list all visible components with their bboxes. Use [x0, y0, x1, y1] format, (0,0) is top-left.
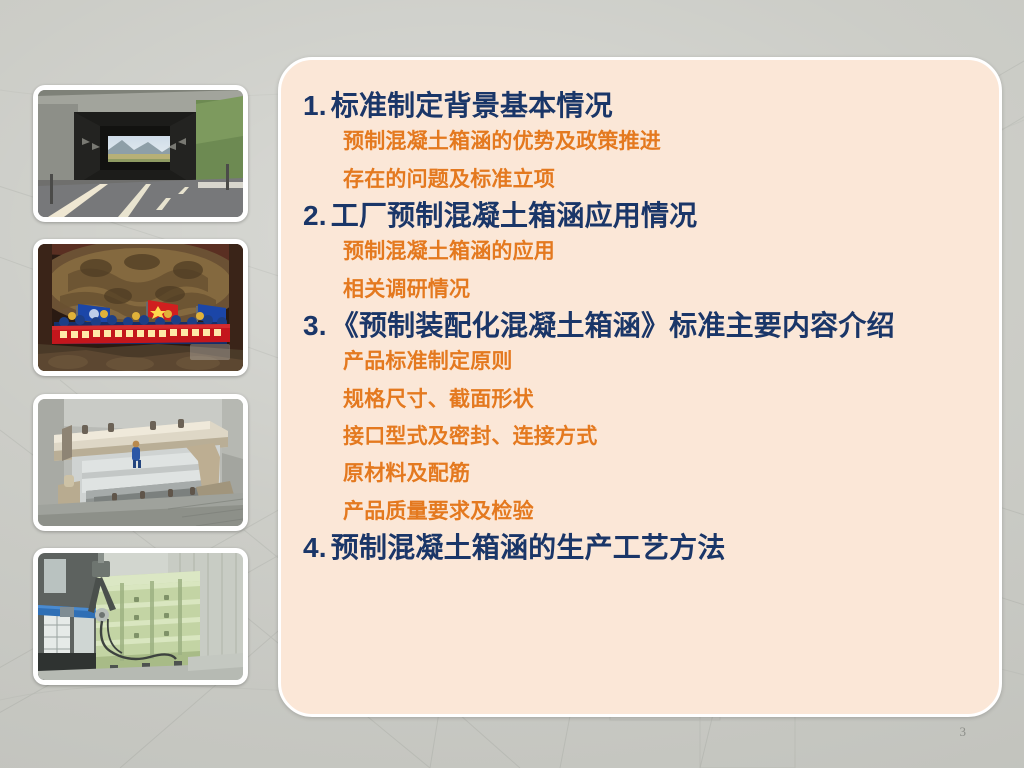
- outline-subitem-2-1[interactable]: 预制混凝土箱涵的应用: [299, 233, 981, 270]
- outline-item-3[interactable]: 3.《预制装配化混凝土箱涵》标准主要内容介绍: [299, 308, 981, 343]
- outline-item-label: 原材料及配筋: [343, 462, 470, 485]
- outline-subitem-3-3[interactable]: 接口型式及密封、连接方式: [299, 418, 981, 455]
- outline-subitem-3-4[interactable]: 原材料及配筋: [299, 455, 981, 492]
- photo-green-steel-mould-factory: [33, 548, 248, 685]
- outline-content-panel: 1.标准制定背景基本情况 预制混凝土箱涵的优势及政策推进 存在的问题及标准立项 …: [278, 57, 1002, 717]
- outline-item-number: 2.: [303, 200, 327, 231]
- outline-item-label: 规格尺寸、截面形状: [343, 388, 534, 411]
- photo-column: [33, 85, 248, 685]
- outline-subitem-3-5[interactable]: 产品质量要求及检验: [299, 493, 981, 530]
- outline-item-label: 标准制定背景基本情况: [331, 90, 613, 121]
- outline-item-label: 产品标准制定原则: [343, 350, 513, 373]
- photo-image: [38, 399, 243, 526]
- page-number: 3: [960, 724, 967, 740]
- outline-subitem-3-1[interactable]: 产品标准制定原则: [299, 343, 981, 380]
- outline-subitem-1-2[interactable]: 存在的问题及标准立项: [299, 161, 981, 198]
- photo-image: [38, 553, 243, 680]
- outline-item-label: 预制混凝土箱涵的优势及政策推进: [343, 130, 661, 153]
- photo-concrete-box-culvert-underpass: [33, 85, 248, 222]
- outline-list: 1.标准制定背景基本情况 预制混凝土箱涵的优势及政策推进 存在的问题及标准立项 …: [299, 88, 981, 565]
- outline-item-number: 1.: [303, 90, 327, 121]
- outline-subitem-1-1[interactable]: 预制混凝土箱涵的优势及政策推进: [299, 123, 981, 160]
- outline-subitem-2-2[interactable]: 相关调研情况: [299, 271, 981, 308]
- outline-item-number: 3.: [303, 310, 327, 341]
- outline-item-number: 4.: [303, 532, 327, 563]
- outline-item-label: 相关调研情况: [343, 278, 470, 301]
- outline-item-2[interactable]: 2.工厂预制混凝土箱涵应用情况: [299, 198, 981, 233]
- outline-item-1[interactable]: 1.标准制定背景基本情况: [299, 88, 981, 123]
- outline-item-label: 预制混凝土箱涵的应用: [343, 240, 555, 263]
- outline-subitem-3-2[interactable]: 规格尺寸、截面形状: [299, 381, 981, 418]
- outline-item-label: 存在的问题及标准立项: [343, 168, 555, 191]
- outline-item-label: 接口型式及密封、连接方式: [343, 425, 597, 448]
- outline-item-label: 工厂预制混凝土箱涵应用情况: [331, 200, 698, 231]
- outline-item-label: 预制混凝土箱涵的生产工艺方法: [331, 532, 726, 563]
- photo-precast-formwork-casting-yard: [33, 394, 248, 531]
- photo-image: [38, 90, 243, 217]
- photo-construction-ceremony-banner: [33, 239, 248, 376]
- outline-item-4[interactable]: 4.预制混凝土箱涵的生产工艺方法: [299, 530, 981, 565]
- photo-image: [38, 244, 243, 371]
- outline-item-label: 产品质量要求及检验: [343, 500, 534, 523]
- presentation-slide: 1.标准制定背景基本情况 预制混凝土箱涵的优势及政策推进 存在的问题及标准立项 …: [0, 0, 1024, 768]
- outline-item-label: 《预制装配化混凝土箱涵》标准主要内容介绍: [331, 310, 895, 341]
